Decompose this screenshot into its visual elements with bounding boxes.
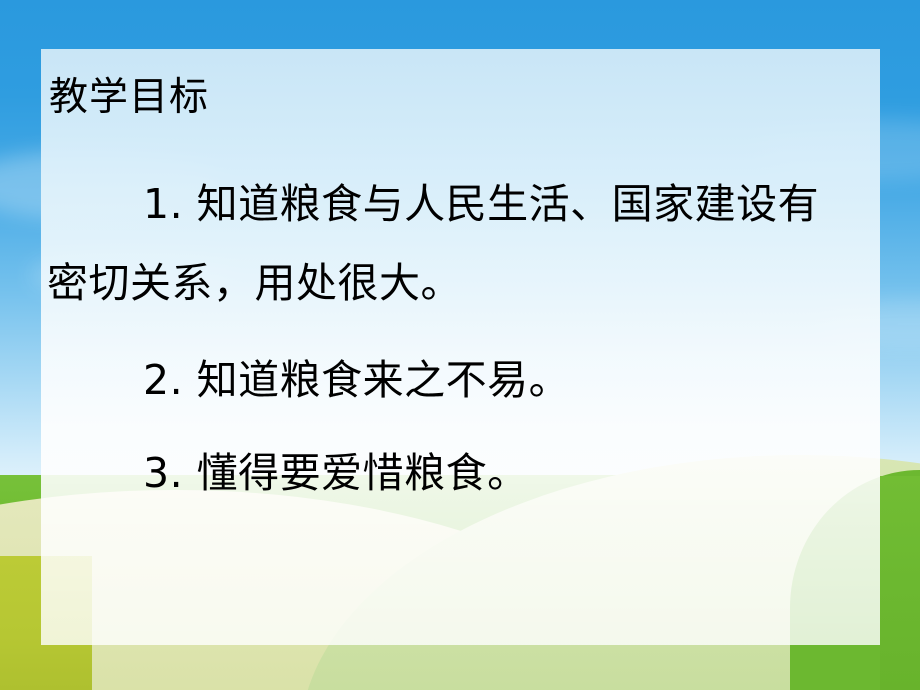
slide-text-container: 教学目标 1. 知道粮食与人民生活、国家建设有 密切关系，用处很大。 2. 知道… bbox=[41, 49, 880, 645]
presentation-slide: 教学目标 1. 知道粮食与人民生活、国家建设有 密切关系，用处很大。 2. 知道… bbox=[0, 0, 920, 690]
objective-item-3: 3. 懂得要爱惜粮食。 bbox=[47, 434, 877, 513]
objective-item-1-line-1: 1. 知道粮食与人民生活、国家建设有 bbox=[47, 165, 877, 244]
slide-title: 教学目标 bbox=[49, 75, 209, 121]
objective-item-2: 2. 知道粮食来之不易。 bbox=[47, 341, 877, 420]
objectives-list: 1. 知道粮食与人民生活、国家建设有 密切关系，用处很大。 2. 知道粮食来之不… bbox=[47, 165, 877, 513]
content-panel: 教学目标 1. 知道粮食与人民生活、国家建设有 密切关系，用处很大。 2. 知道… bbox=[41, 49, 880, 645]
objective-item-1-line-2: 密切关系，用处很大。 bbox=[47, 244, 877, 323]
green-strip-right bbox=[880, 476, 920, 690]
